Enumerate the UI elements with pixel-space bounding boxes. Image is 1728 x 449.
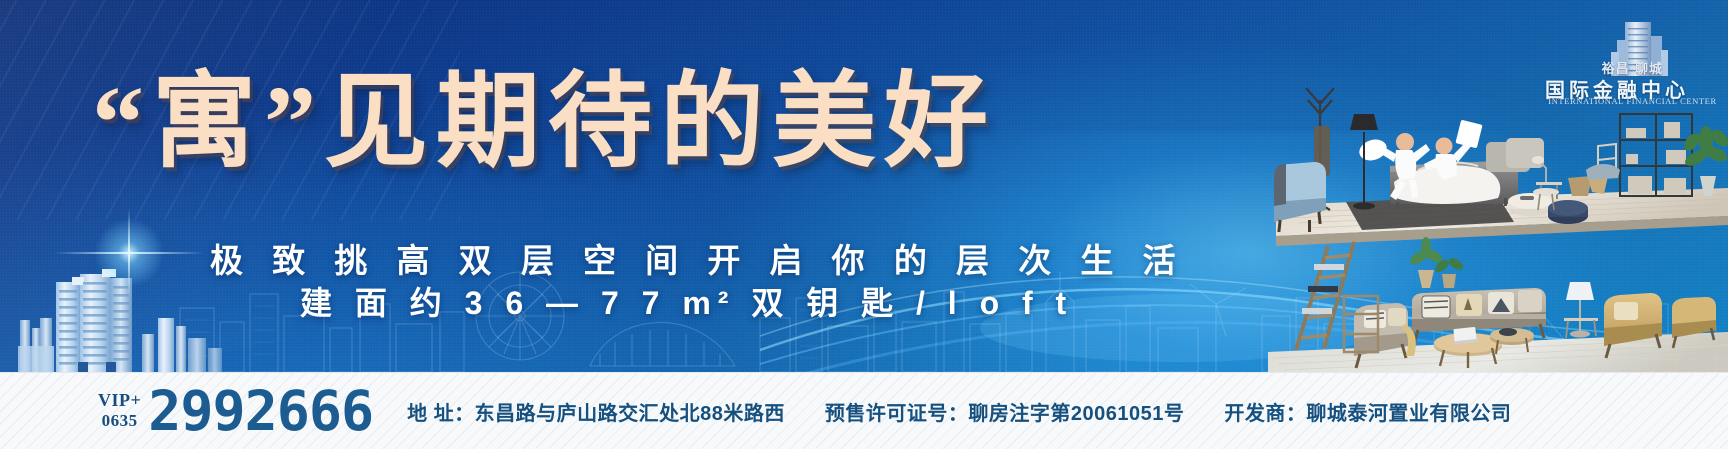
real-estate-banner: “寓”见期待的美好 极 致 挑 高 双 层 空 间 开 启 你 的 层 次 生 …	[0, 0, 1728, 449]
footer-info-bar: VIP+ 0635 2992666 地 址：东昌路与庐山路交汇处北88米路西 预…	[0, 372, 1728, 449]
phone-block[interactable]: VIP+ 0635 2992666	[98, 385, 373, 437]
vip-label: VIP+	[98, 390, 141, 411]
loft-interior-scene	[1168, 70, 1728, 372]
subtitle-specs-suffix: 双 钥 匙 / l o f t	[735, 285, 1073, 321]
vip-label-group: VIP+ 0635	[98, 390, 141, 432]
subtitle-features: 极 致 挑 高 双 层 空 间 开 启 你 的 层 次 生 活	[210, 234, 1186, 282]
area-code: 0635	[98, 411, 141, 431]
subtitle-specs-prefix: 建 面 约 3 6 — 7 7	[300, 285, 682, 321]
phone-number[interactable]: 2992666	[148, 385, 373, 437]
permit-text: 预售许可证号：聊房注字第20061051号	[825, 397, 1184, 426]
footer-details: 地 址：东昌路与庐山路交汇处北88米路西 预售许可证号：聊房注字第2006105…	[407, 397, 1511, 426]
developer-text: 开发商：聊城泰河置业有限公司	[1224, 397, 1511, 426]
banner-background: “寓”见期待的美好 极 致 挑 高 双 层 空 间 开 启 你 的 层 次 生 …	[0, 0, 1728, 372]
subtitle-specs-unit: m²	[682, 285, 735, 321]
logo-line-english: INTERNATIONAL FINANCIAL CENTER	[1545, 96, 1720, 106]
address-text: 地 址：东昌路与庐山路交汇处北88米路西	[407, 397, 785, 426]
project-logo: 裕昌·聊城 国际金融中心 INTERNATIONAL FINANCIAL CEN…	[1545, 22, 1720, 102]
subtitle-specs: 建 面 约 3 6 — 7 7 m² 双 钥 匙 / l o f t	[300, 278, 1073, 324]
tower-light-flare	[94, 218, 164, 288]
page-title: “寓”见期待的美好	[92, 62, 1212, 185]
residential-tower-illustration	[18, 222, 238, 372]
